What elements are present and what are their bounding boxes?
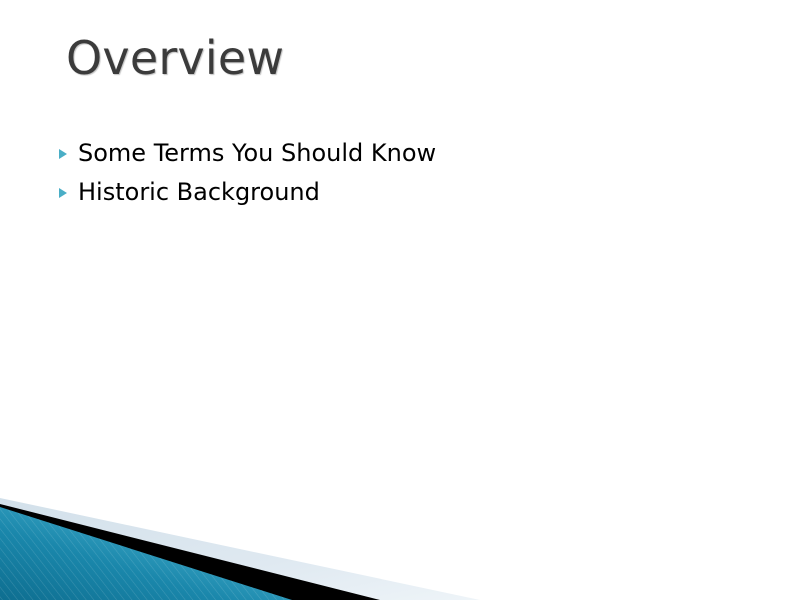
- teal-gradient-band: [0, 507, 292, 600]
- teal-band-texture: [0, 507, 292, 600]
- list-item: Historic Background: [56, 173, 716, 212]
- list-item-label: Historic Background: [78, 178, 320, 206]
- triangle-bullet-icon: [58, 134, 70, 173]
- pale-blue-band: [0, 498, 480, 600]
- list-item-label: Some Terms You Should Know: [78, 139, 436, 167]
- black-band: [0, 504, 380, 600]
- bullet-list: Some Terms You Should Know Historic Back…: [56, 134, 716, 212]
- page-title: Overview: [66, 34, 284, 82]
- slide-canvas: Overview Some Terms You Should Know Hist…: [0, 0, 800, 600]
- list-item: Some Terms You Should Know: [56, 134, 716, 173]
- diagonal-bands-graphic: [0, 490, 800, 600]
- triangle-bullet-icon: [58, 173, 70, 212]
- corner-decoration: [0, 490, 800, 600]
